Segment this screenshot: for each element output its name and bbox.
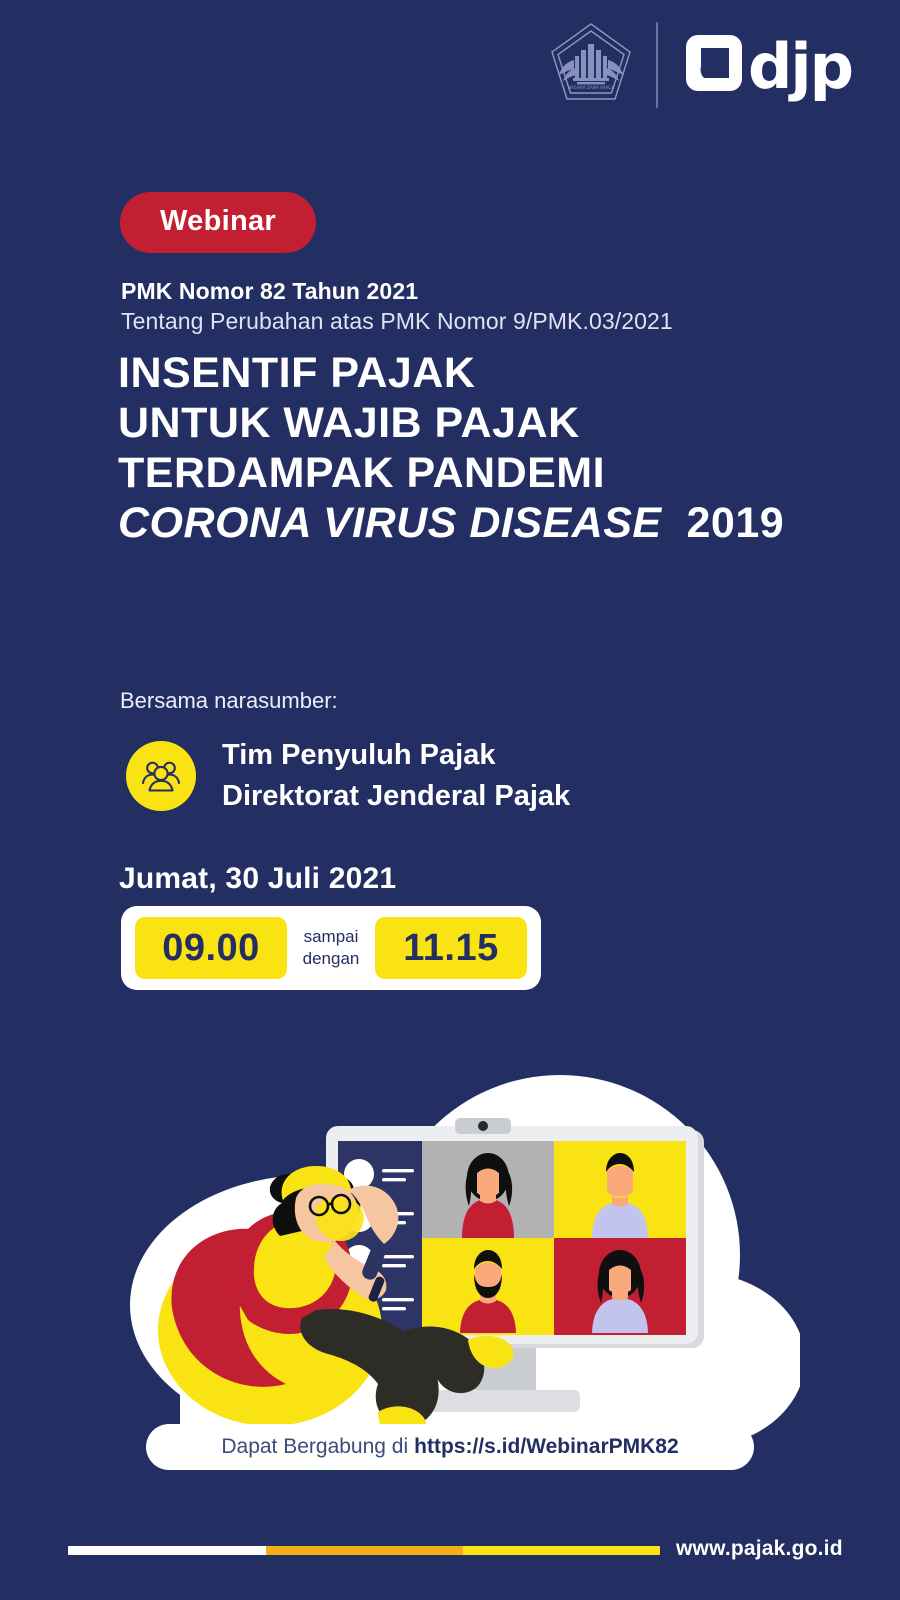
logo-divider <box>656 22 658 108</box>
join-prefix: Dapat Bergabung di <box>221 1435 408 1459</box>
djp-rounded-square-mark-icon <box>684 33 744 98</box>
event-date: Jumat, 30 Juli 2021 <box>119 862 396 896</box>
join-link-bar[interactable]: Dapat Bergabung di https://s.id/WebinarP… <box>146 1424 754 1470</box>
group-people-icon <box>126 741 196 811</box>
svg-text:NAGARA DANA RAKCA: NAGARA DANA RAKCA <box>568 85 614 90</box>
join-url[interactable]: https://s.id/WebinarPMK82 <box>414 1435 678 1459</box>
kemenkeu-pentagon-emblem-icon: NAGARA DANA RAKCA <box>548 20 634 110</box>
title-line-1: INSENTIF PAJAK <box>118 348 858 398</box>
regulation-number: PMK Nomor 82 Tahun 2021 <box>121 278 418 305</box>
footer-bar-segment-yellow <box>463 1546 660 1555</box>
page-title: INSENTIF PAJAK UNTUK WAJIB PAJAK TERDAMP… <box>118 348 858 548</box>
webinar-badge: Webinar <box>120 192 316 253</box>
title-line-2: UNTUK WAJIB PAJAK <box>118 398 858 448</box>
title-line-3: TERDAMPAK PANDEMI <box>118 448 858 498</box>
speaker-names: Tim Penyuluh Pajak Direktorat Jenderal P… <box>222 735 570 817</box>
speaker-name-line-2: Direktorat Jenderal Pajak <box>222 776 570 817</box>
event-time-card: 09.00 sampai dengan 11.15 <box>121 906 541 990</box>
speaker-intro: Bersama narasumber: <box>120 688 338 714</box>
footer: www.pajak.go.id <box>0 1510 900 1600</box>
webinar-speaker-and-video-call-illustration <box>120 1040 800 1440</box>
footer-bar-segment-white <box>68 1546 266 1555</box>
webinar-poster: NAGARA DANA RAKCA djp Webinar PMK Nomor … <box>0 0 900 1600</box>
time-separator-line-1: sampai <box>304 926 359 948</box>
time-separator-line-2: dengan <box>303 948 360 970</box>
footer-bar-segment-orange <box>266 1546 463 1555</box>
header-logos: NAGARA DANA RAKCA djp <box>548 20 852 110</box>
speaker-block: Tim Penyuluh Pajak Direktorat Jenderal P… <box>126 735 570 817</box>
speaker-name-line-1: Tim Penyuluh Pajak <box>222 735 570 776</box>
time-end-chip: 11.15 <box>375 917 527 979</box>
djp-wordmark: djp <box>748 39 852 95</box>
time-separator: sampai dengan <box>303 926 360 970</box>
footer-color-bar <box>68 1546 660 1555</box>
djp-logo: djp <box>684 33 852 98</box>
regulation-subtitle: Tentang Perubahan atas PMK Nomor 9/PMK.0… <box>121 308 673 335</box>
title-line-4-italic: CORONA VIRUS DISEASE <box>118 499 662 547</box>
title-line-4-year: 2019 <box>687 499 785 547</box>
time-start-chip: 09.00 <box>135 917 287 979</box>
title-line-4: CORONA VIRUS DISEASE 2019 <box>118 498 858 548</box>
footer-website-url[interactable]: www.pajak.go.id <box>676 1537 843 1561</box>
